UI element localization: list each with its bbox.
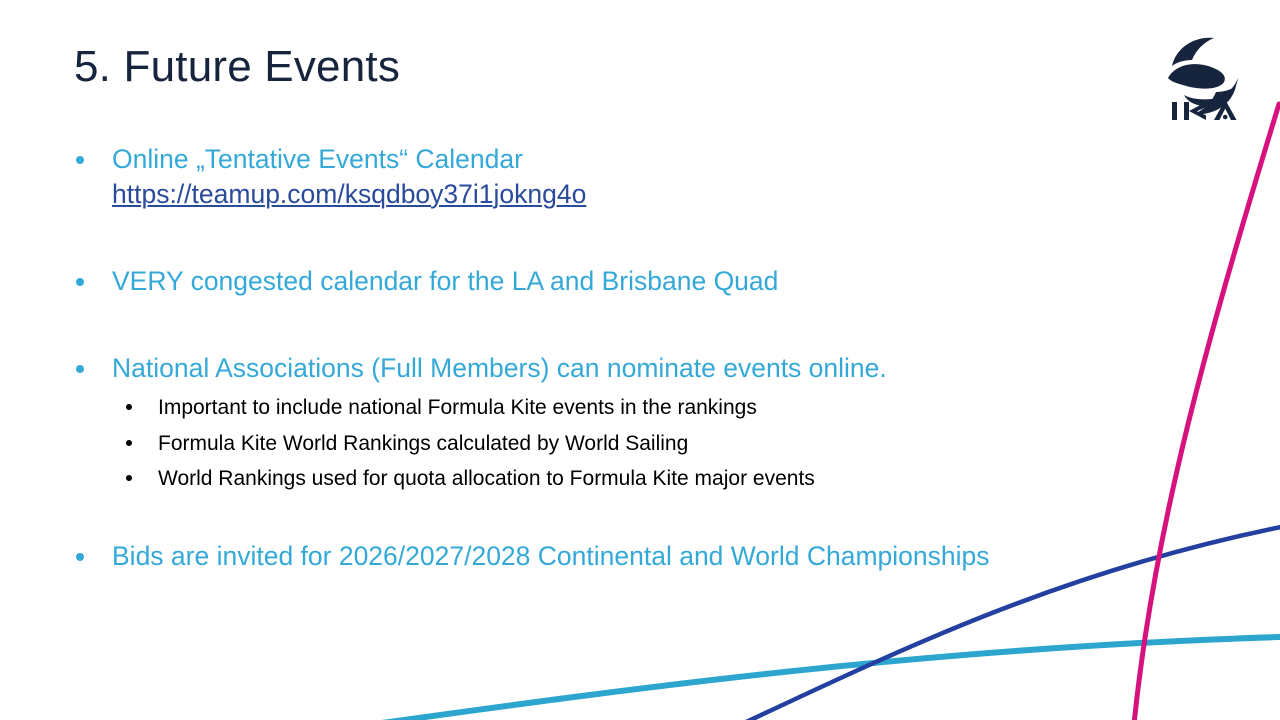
sub-bullet-item-3: World Rankings used for quota allocation… [116, 461, 1156, 497]
sub-bullet-item-2: Formula Kite World Rankings calculated b… [116, 426, 1156, 462]
sub-bullet-dot-icon [126, 440, 132, 446]
teamup-calendar-link[interactable]: https://teamup.com/ksqdboy37i1jokng4o [112, 177, 1156, 212]
bullet-label: VERY congested calendar for the LA and B… [112, 264, 1156, 299]
cyan-curve [360, 637, 1280, 720]
spacer [66, 212, 1156, 264]
bullet-dot-icon [76, 278, 84, 286]
sub-bullet-list: Important to include national Formula Ki… [66, 390, 1156, 497]
bullet-item-2: VERY congested calendar for the LA and B… [66, 264, 1156, 299]
slide-canvas: 5. Future Events Online „Tentative Event… [0, 0, 1280, 720]
bullet-item-1: Online „Tentative Events“ Calendar https… [66, 142, 1156, 212]
bullet-item-4: Bids are invited for 2026/2027/2028 Cont… [66, 539, 1156, 574]
page-title: 5. Future Events [74, 41, 400, 93]
bullet-label: National Associations (Full Members) can… [112, 351, 1156, 386]
bullet-item-3: National Associations (Full Members) can… [66, 351, 1156, 386]
sub-bullet-label: World Rankings used for quota allocation… [158, 467, 815, 490]
sub-bullet-dot-icon [126, 475, 132, 481]
bullet-label: Bids are invited for 2026/2027/2028 Cont… [112, 539, 1156, 574]
sub-bullet-item-1: Important to include national Formula Ki… [116, 390, 1156, 426]
slide-body: Online „Tentative Events“ Calendar https… [66, 142, 1156, 574]
sub-bullet-dot-icon [126, 404, 132, 410]
bullet-dot-icon [76, 156, 84, 164]
sub-bullet-label: Formula Kite World Rankings calculated b… [158, 432, 688, 455]
bullet-dot-icon [76, 365, 84, 373]
bullet-label: Online „Tentative Events“ Calendar [112, 142, 1156, 177]
spacer [66, 497, 1156, 539]
bullet-dot-icon [76, 553, 84, 561]
spacer [66, 299, 1156, 351]
ika-logo [1152, 26, 1256, 126]
ika-swirl-mark [1168, 38, 1238, 114]
sub-bullet-label: Important to include national Formula Ki… [158, 396, 757, 419]
